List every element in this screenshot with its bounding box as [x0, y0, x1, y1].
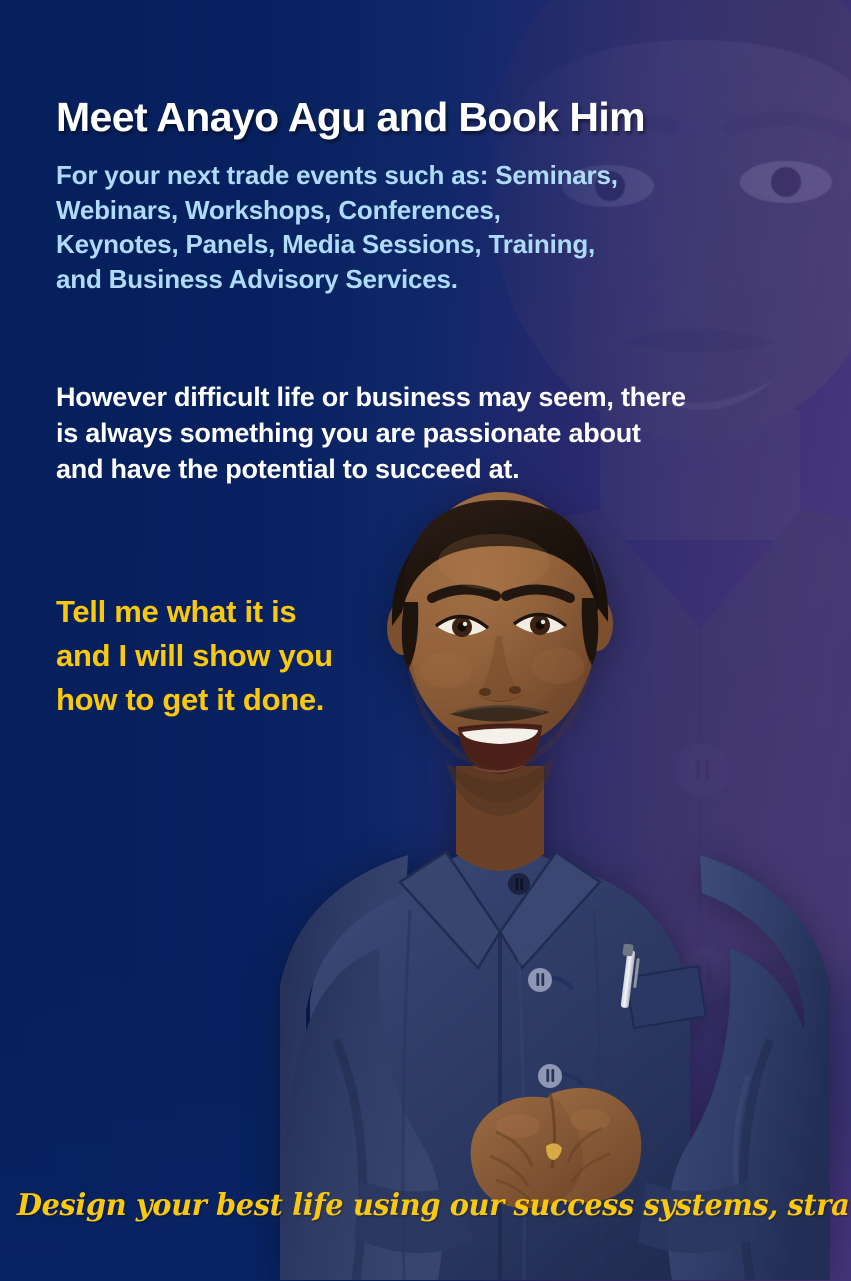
cta-line: and I will show you	[56, 634, 333, 678]
subtitle-line: Webinars, Workshops, Conferences,	[56, 193, 618, 228]
subtitle-line: Keynotes, Panels, Media Sessions, Traini…	[56, 227, 618, 262]
quote-block: However difficult life or business may s…	[56, 380, 686, 488]
quote-line: is always something you are passionate a…	[56, 416, 686, 452]
suit-button-top	[508, 873, 530, 895]
subtitle-line: For your next trade events such as: Semi…	[56, 158, 618, 193]
subtitle-line: and Business Advisory Services.	[56, 262, 618, 297]
portrait-man-navy-suit	[250, 480, 851, 1280]
cta-line: how to get it done.	[56, 678, 333, 722]
chest-pocket	[626, 966, 706, 1028]
cta-line: Tell me what it is	[56, 590, 333, 634]
quote-line: and have the potential to succeed at.	[56, 452, 686, 488]
poster-canvas: Meet Anayo Agu and Book Him For your nex…	[0, 0, 851, 1281]
head	[387, 492, 613, 816]
subtitle-block: For your next trade events such as: Semi…	[56, 158, 618, 296]
page-title: Meet Anayo Agu and Book Him	[56, 96, 645, 139]
footer-tagline: Design your best life using our success …	[17, 1188, 834, 1223]
quote-line: However difficult life or business may s…	[56, 380, 686, 416]
call-to-action-block: Tell me what it is and I will show you h…	[56, 590, 333, 722]
